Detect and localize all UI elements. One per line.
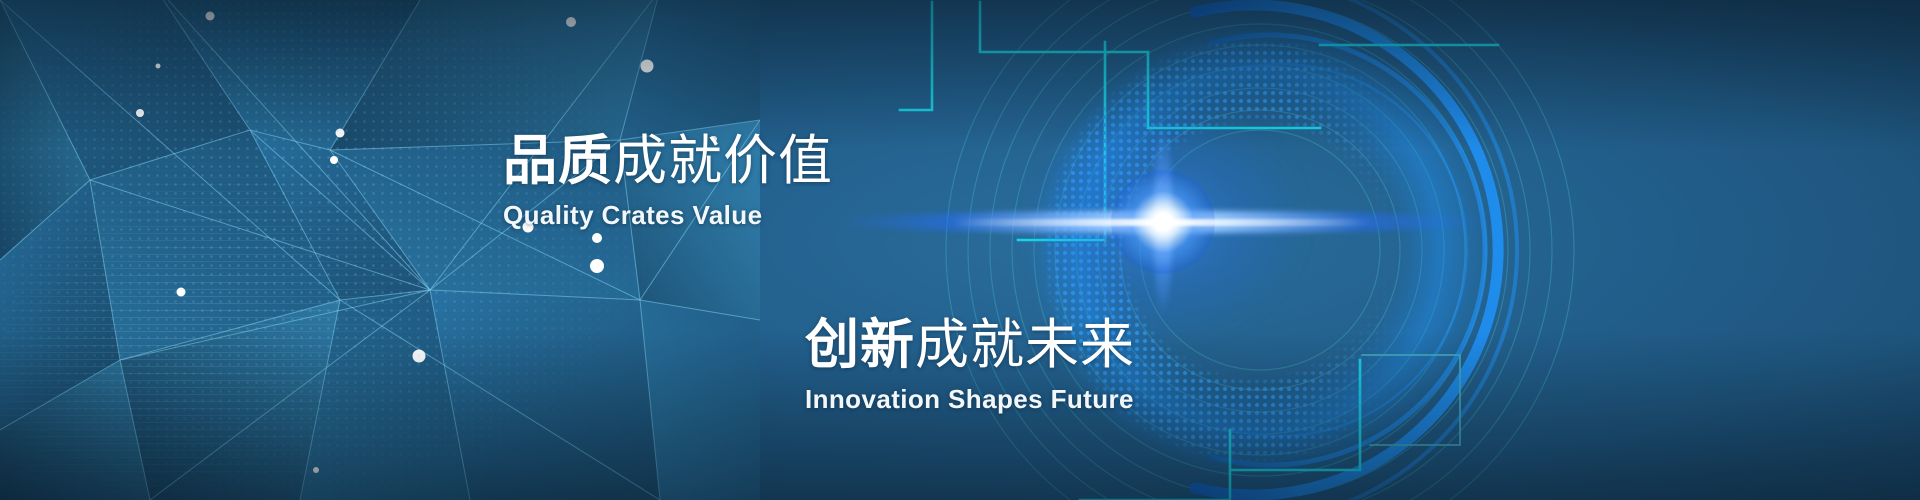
line-hatch-texture bbox=[0, 120, 477, 500]
tech-circle-ring bbox=[900, 0, 1620, 500]
vignette-overlay bbox=[0, 0, 1920, 500]
slogan-block-quality: 品质成就价值 Quality Crates Value bbox=[503, 134, 833, 231]
top-shade-overlay bbox=[0, 0, 1920, 150]
slogan-headline-innovation: 创新成就未来 bbox=[805, 318, 1135, 372]
low-poly-network-mesh bbox=[0, 0, 760, 500]
hero-banner: 品质成就价值 Quality Crates Value 创新成就未来 Innov… bbox=[0, 0, 1920, 500]
slogan-subline-innovation: Innovation Shapes Future bbox=[805, 384, 1135, 415]
slogan-headline-light-quality: 成就价值 bbox=[613, 131, 833, 191]
slogan-subline-quality: Quality Crates Value bbox=[503, 200, 833, 231]
glow-arcs bbox=[1172, 0, 1517, 500]
slogan-block-innovation: 创新成就未来 Innovation Shapes Future bbox=[805, 318, 1135, 415]
concentric-circles bbox=[946, 0, 1574, 500]
dot-matrix-texture bbox=[0, 0, 700, 500]
slogan-headline-quality: 品质成就价值 bbox=[503, 134, 833, 188]
slogan-headline-strong-innovation: 创新 bbox=[805, 315, 915, 375]
circuit-trace-lines bbox=[900, 0, 1498, 500]
slogan-headline-strong-quality: 品质 bbox=[503, 131, 613, 191]
circuit-trace-lines-dim bbox=[1105, 240, 1460, 445]
slogan-headline-light-innovation: 成就未来 bbox=[915, 315, 1135, 375]
mesh-node-dots bbox=[136, 12, 717, 474]
